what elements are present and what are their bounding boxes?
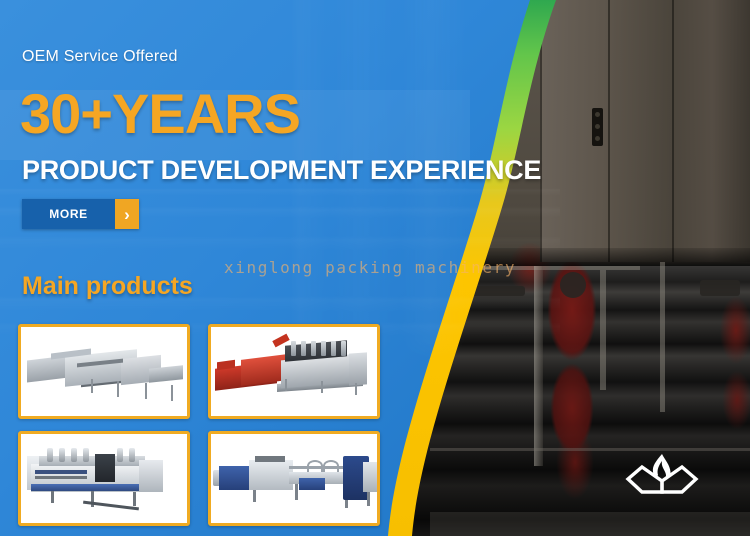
kicker-text: OEM Service Offered <box>22 48 178 66</box>
section-title: Main products <box>22 272 193 301</box>
product-image-4 <box>211 434 377 523</box>
photo-wall-seam <box>672 0 674 262</box>
banner-root: OEM Service Offered 30+YEARS PRODUCT DEV… <box>0 0 750 536</box>
more-button[interactable]: MORE › <box>22 199 139 229</box>
xinglong-flame-diamond-logo <box>612 448 712 504</box>
more-button-label: MORE <box>49 207 87 221</box>
product-thumbnail-3[interactable] <box>18 431 190 526</box>
product-thumbnail-1[interactable] <box>18 324 190 419</box>
more-button-body[interactable]: MORE <box>22 199 115 229</box>
chevron-right-icon: › <box>115 199 139 229</box>
product-thumbnail-grid <box>18 324 380 526</box>
photo-panel <box>700 280 740 296</box>
product-image-1 <box>21 327 187 416</box>
product-image-3 <box>21 434 187 523</box>
product-image-2 <box>211 327 377 416</box>
photo-frame-bar <box>660 262 665 412</box>
product-thumbnail-4[interactable] <box>208 431 380 526</box>
page-title: 30+YEARS <box>20 86 300 142</box>
subtitle-text: PRODUCT DEVELOPMENT EXPERIENCE <box>22 157 541 184</box>
product-thumbnail-2[interactable] <box>208 324 380 419</box>
